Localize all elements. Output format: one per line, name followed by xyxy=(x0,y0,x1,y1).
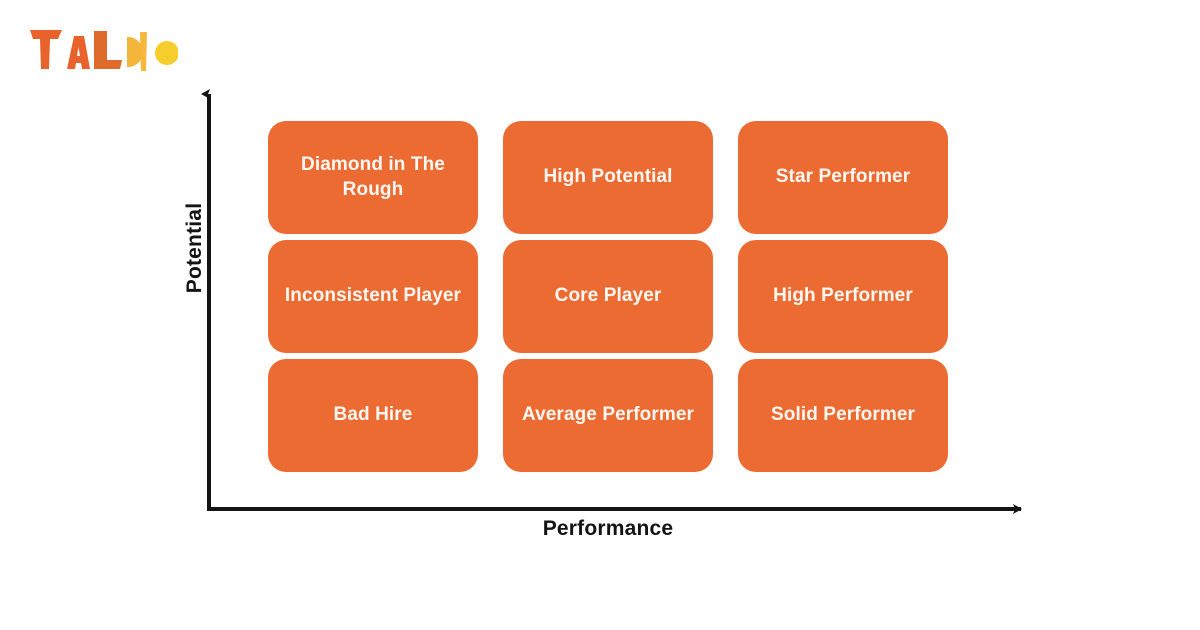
matrix-cell-core-player[interactable]: Core Player xyxy=(503,240,713,353)
matrix-cell-diamond-in-the-rough[interactable]: Diamond in The Rough xyxy=(268,121,478,234)
matrix-cell-label: Average Performer xyxy=(522,403,694,427)
matrix-cell-star-performer[interactable]: Star Performer xyxy=(738,121,948,234)
matrix-cell-average-performer[interactable]: Average Performer xyxy=(503,359,713,472)
matrix-cell-label: Bad Hire xyxy=(334,403,413,427)
matrix-cell-label: High Potential xyxy=(543,165,672,189)
matrix-cell-label: High Performer xyxy=(773,284,913,308)
matrix-cell-label: Inconsistent Player xyxy=(285,284,461,308)
matrix-cell-label: Star Performer xyxy=(776,165,910,189)
matrix-cell-high-potential[interactable]: High Potential xyxy=(503,121,713,234)
nine-box-matrix-infographic: Potential Performance Diamond in The Rou… xyxy=(0,0,1200,630)
matrix-cell-high-performer[interactable]: High Performer xyxy=(738,240,948,353)
matrix-cell-bad-hire[interactable]: Bad Hire xyxy=(268,359,478,472)
matrix-cell-label: Solid Performer xyxy=(771,403,915,427)
x-axis-title: Performance xyxy=(408,517,808,541)
y-axis-title: Potential xyxy=(183,183,207,313)
matrix-cell-inconsistent-player[interactable]: Inconsistent Player xyxy=(268,240,478,353)
matrix-grid: Diamond in The Rough High Potential Star… xyxy=(268,121,948,479)
matrix-cell-label: Core Player xyxy=(555,284,662,308)
matrix-cell-label: Diamond in The Rough xyxy=(282,153,464,202)
matrix-cell-solid-performer[interactable]: Solid Performer xyxy=(738,359,948,472)
